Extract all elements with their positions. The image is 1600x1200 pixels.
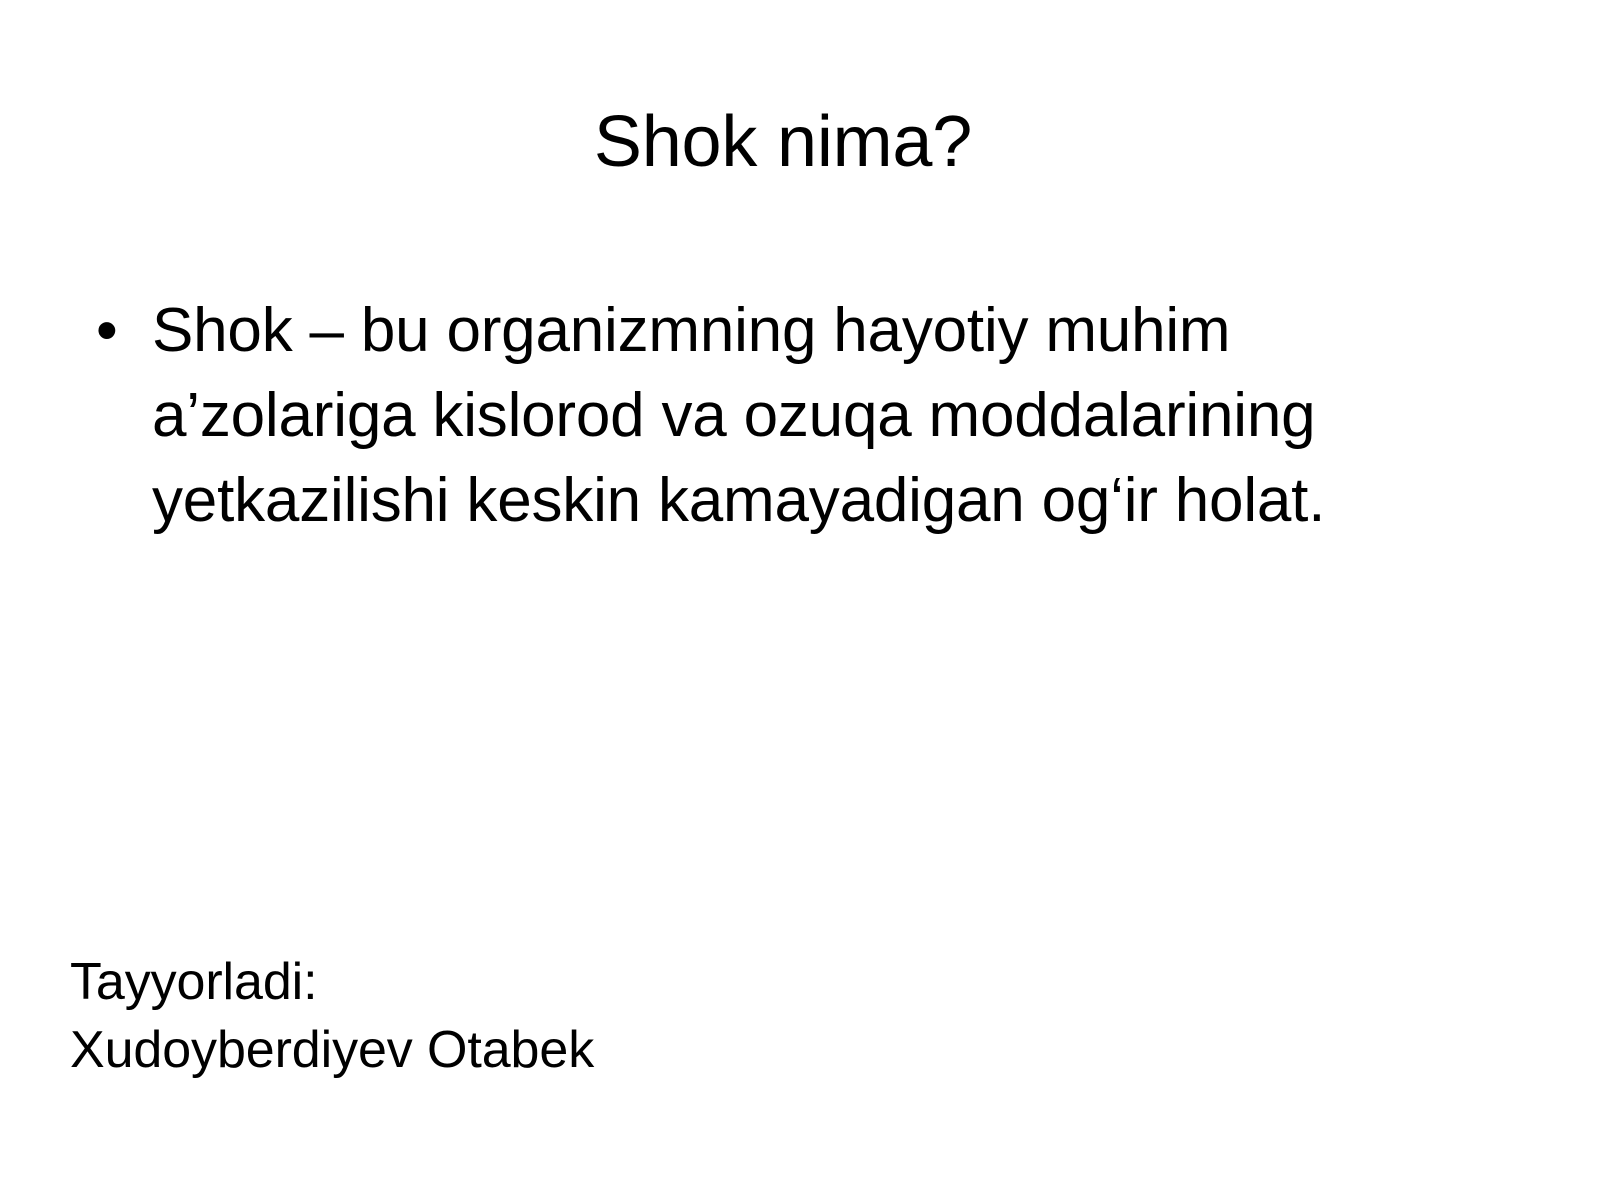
- author-credit-block: Tayyorladi: Xudoyberdiyev Otabek: [70, 948, 970, 1084]
- page-title: Shok nima?: [0, 100, 1566, 185]
- list-item: • Shok – bu organizmning hayotiy muhim a…: [96, 288, 1396, 543]
- bullet-item-text: Shok – bu organizmning hayotiy muhim a’z…: [152, 288, 1396, 543]
- slide-body-content: • Shok – bu organizmning hayotiy muhim a…: [96, 288, 1396, 543]
- author-name: Xudoyberdiyev Otabek: [70, 1016, 970, 1084]
- prepared-by-label: Tayyorladi:: [70, 948, 970, 1016]
- presentation-slide: Shok nima? • Shok – bu organizmning hayo…: [0, 0, 1600, 1200]
- bullet-point-icon: •: [96, 288, 152, 373]
